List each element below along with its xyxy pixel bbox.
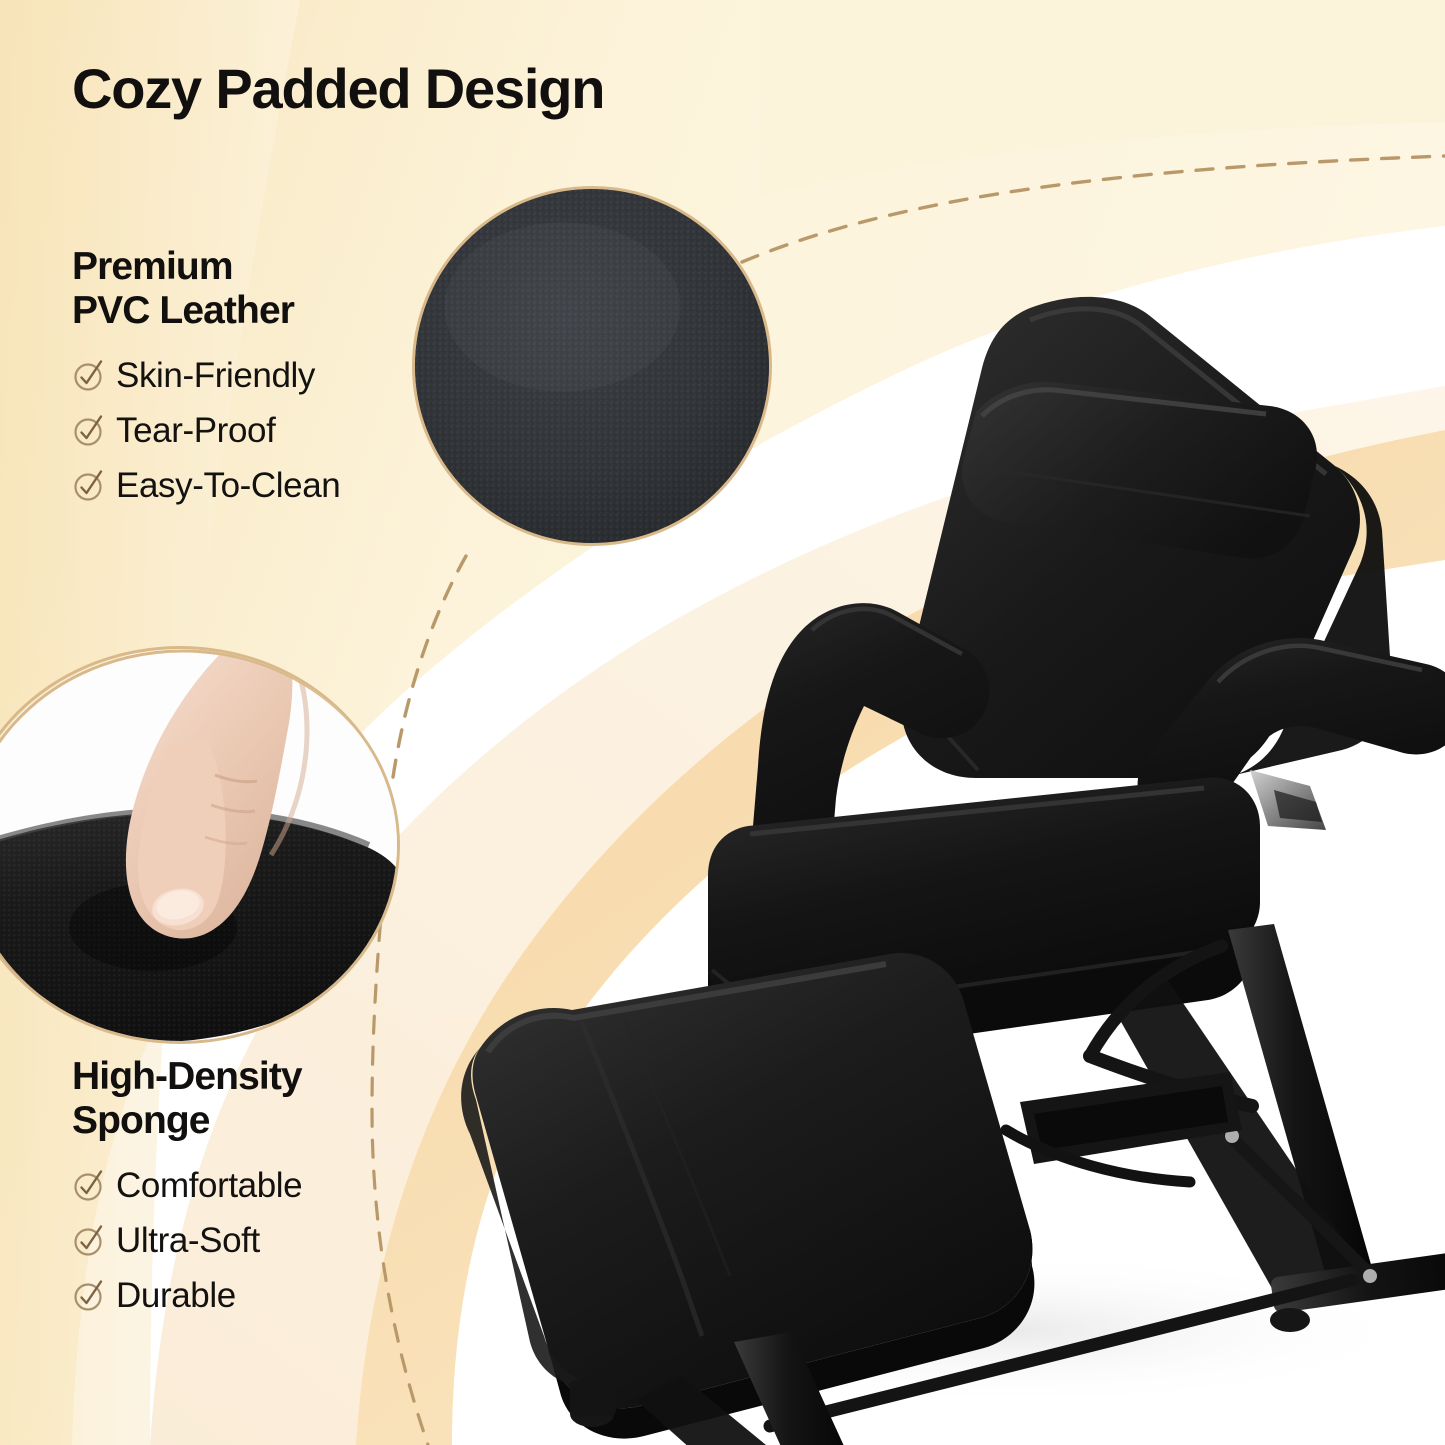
- feature-block-premium-pvc-leather: Premium PVC Leather Skin-Friendly Tear-P…: [72, 245, 340, 517]
- list-item-label: Tear-Proof: [116, 413, 275, 448]
- feature-heading: Premium PVC Leather: [72, 245, 340, 332]
- feature-list: Skin-Friendly Tear-Proof Easy-To-Clean: [72, 352, 340, 508]
- check-circle-icon: [72, 1223, 106, 1257]
- check-circle-icon: [72, 413, 106, 447]
- check-circle-icon: [72, 1168, 106, 1202]
- product-image-spa-chair: [330, 230, 1445, 1445]
- list-item-label: Comfortable: [116, 1168, 302, 1203]
- check-circle-icon: [72, 468, 106, 502]
- list-item: Tear-Proof: [72, 407, 340, 453]
- list-item-label: Skin-Friendly: [116, 358, 315, 393]
- list-item: Skin-Friendly: [72, 352, 340, 398]
- feature-block-high-density-sponge: High-Density Sponge Comfortable Ultra-So…: [72, 1055, 302, 1327]
- check-circle-icon: [72, 1278, 106, 1312]
- list-item: Durable: [72, 1272, 302, 1318]
- list-item: Easy-To-Clean: [72, 462, 340, 508]
- list-item-label: Durable: [116, 1278, 236, 1313]
- list-item-label: Easy-To-Clean: [116, 468, 340, 503]
- list-item: Ultra-Soft: [72, 1217, 302, 1263]
- spa-chair-illustration: [330, 230, 1445, 1445]
- feature-list: Comfortable Ultra-Soft Durable: [72, 1162, 302, 1318]
- list-item: Comfortable: [72, 1162, 302, 1208]
- feature-heading: High-Density Sponge: [72, 1055, 302, 1142]
- infographic-canvas: Cozy Padded Design: [0, 0, 1445, 1445]
- page-title: Cozy Padded Design: [72, 56, 604, 121]
- list-item-label: Ultra-Soft: [116, 1223, 260, 1258]
- check-circle-icon: [72, 358, 106, 392]
